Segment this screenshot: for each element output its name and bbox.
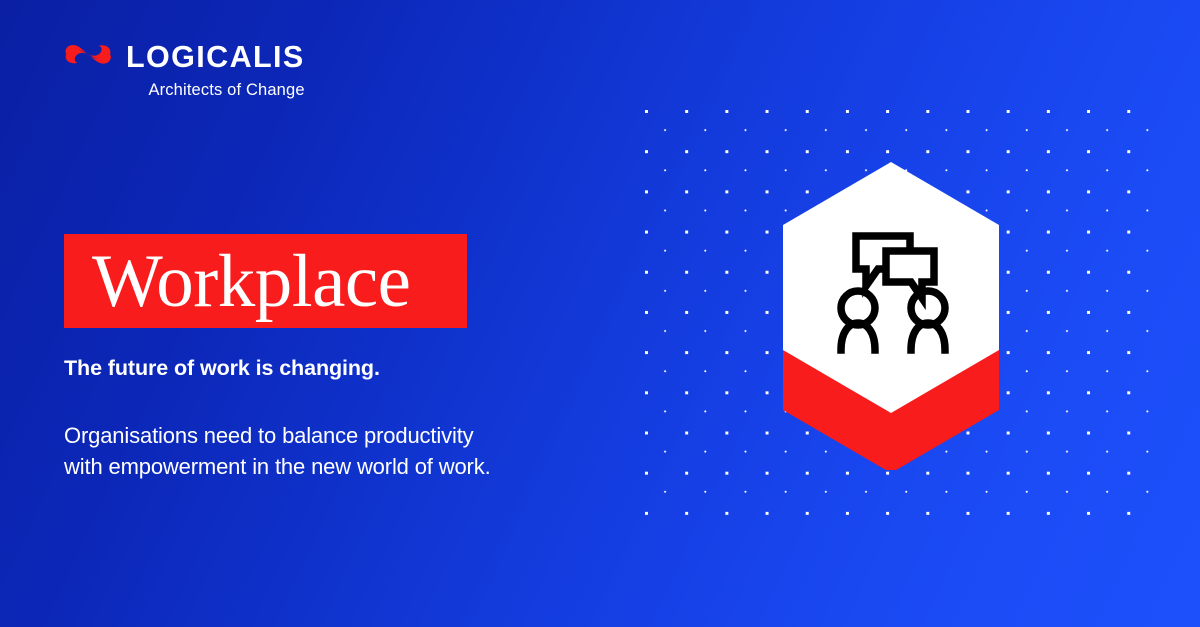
workplace-collaboration-hexagon xyxy=(755,150,1035,470)
logo-primary-row: LOGICALIS xyxy=(62,42,305,73)
logicalis-logo[interactable]: LOGICALIS Architects of Change xyxy=(62,42,305,98)
logicalis-wordmark: LOGICALIS xyxy=(126,42,305,73)
headline-red-block: Workplace xyxy=(64,234,467,328)
body-copy-line-2: with empowerment in the new world of wor… xyxy=(64,451,624,482)
body-copy: Organisations need to balance productivi… xyxy=(64,420,624,482)
body-copy-line-1: Organisations need to balance productivi… xyxy=(64,420,624,451)
subheadline: The future of work is changing. xyxy=(64,356,380,382)
banner-canvas: LOGICALIS Architects of Change Workplace… xyxy=(0,0,1200,627)
page-title: Workplace xyxy=(64,244,410,319)
logicalis-tagline: Architects of Change xyxy=(62,82,307,99)
logicalis-infinity-mark-icon xyxy=(62,42,114,72)
